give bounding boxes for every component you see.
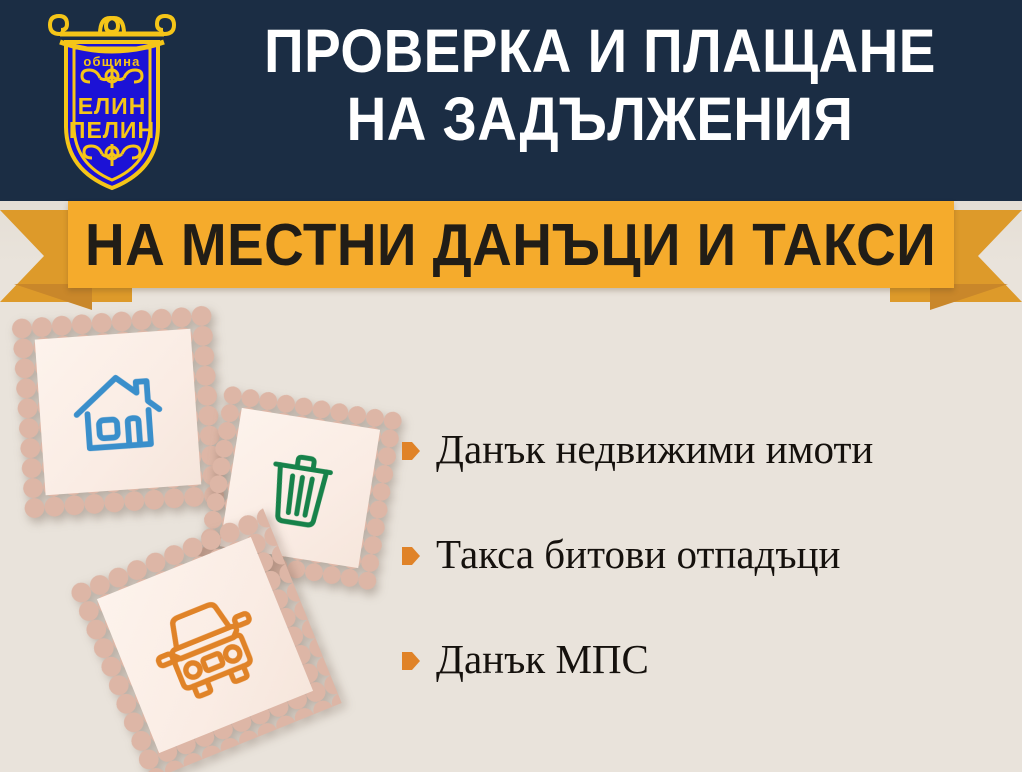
pentagon-arrow-bullet-icon [402,650,420,672]
page-title: ПРОВЕРКА И ПЛАЩАНЕ НА ЗАДЪЛЖЕНИЯ [192,22,1008,150]
ribbon-body: НА МЕСТНИ ДАНЪЦИ И ТАКСИ [68,201,954,288]
pentagon-arrow-bullet-icon [402,545,420,567]
pentagon-arrow-bullet-icon [402,440,420,462]
house-icon [11,305,224,518]
list-item-label: Данък МПС [436,638,649,681]
page-title-line-1: ПРОВЕРКА И ПЛАЩАНЕ [233,22,967,82]
municipality-crest-icon: община ЕЛИН ПЕЛИН [42,8,182,192]
stamp-card-house [11,305,224,518]
list-item[interactable]: Данък недвижими имоти [402,428,1012,471]
header-banner: община ЕЛИН ПЕЛИН [0,0,1022,201]
subtitle-ribbon: НА МЕСТНИ ДАНЪЦИ И ТАКСИ [0,196,1022,312]
ribbon-label: НА МЕСТНИ ДАНЪЦИ И ТАКСИ [85,211,936,279]
tax-type-list: Данък недвижими имоти Такса битови отпад… [402,428,1012,743]
poster-canvas: община ЕЛИН ПЕЛИН [0,0,1022,772]
svg-text:ПЕЛИН: ПЕЛИН [69,117,155,143]
list-item-label: Данък недвижими имоти [436,428,873,471]
list-item[interactable]: Данък МПС [402,638,1012,681]
svg-text:ЕЛИН: ЕЛИН [78,93,147,119]
list-item-label: Такса битови отпадъци [436,533,840,576]
list-item[interactable]: Такса битови отпадъци [402,533,1012,576]
page-title-line-2: НА ЗАДЪЛЖЕНИЯ [233,90,967,150]
